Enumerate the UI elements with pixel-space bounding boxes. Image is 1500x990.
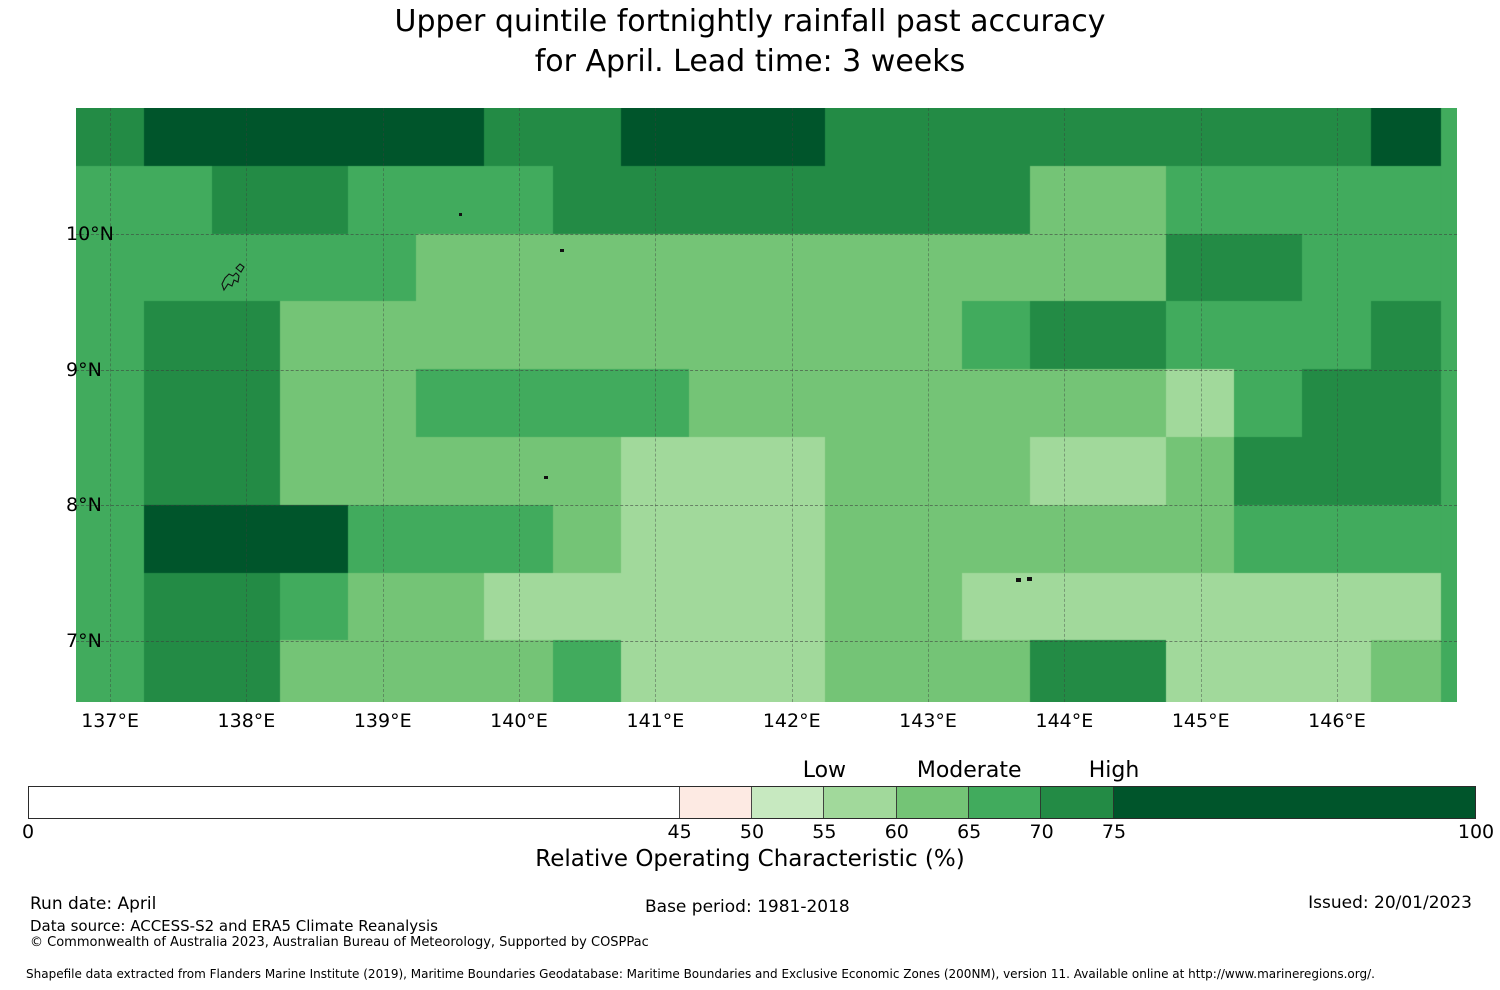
x-tick-label: 141°E	[627, 710, 685, 732]
y-tick-label: 10°N	[66, 223, 114, 245]
colorbar-axis-label: Relative Operating Characteristic (%)	[0, 845, 1500, 873]
colorbar-segment	[29, 787, 680, 818]
x-tick-label: 139°E	[354, 710, 412, 732]
colorbar-tick-label: 70	[1030, 821, 1054, 844]
x-tick-label: 145°E	[1172, 710, 1230, 732]
x-tick-label: 144°E	[1035, 710, 1093, 732]
x-tick-label: 140°E	[490, 710, 548, 732]
colorbar-segment	[680, 787, 752, 818]
footer-run-date: Run date: April	[30, 894, 156, 915]
colorbar-tick-label: 0	[22, 821, 34, 844]
colorbar-tick-label: 45	[668, 821, 692, 844]
footer-base-period: Base period: 1981-2018	[645, 897, 850, 918]
colorbar-segment	[1041, 787, 1113, 818]
x-tick-label: 146°E	[1308, 710, 1366, 732]
colorbar-segment	[897, 787, 969, 818]
heatmap-plot	[76, 108, 1457, 702]
footer-copyright: © Commonwealth of Australia 2023, Austra…	[30, 934, 649, 951]
x-tick-label: 138°E	[218, 710, 276, 732]
page-title: Upper quintile fortnightly rainfall past…	[0, 2, 1500, 82]
x-tick-label: 137°E	[81, 710, 139, 732]
colorbar-tick-label: 65	[957, 821, 981, 844]
x-tick-label: 142°E	[763, 710, 821, 732]
colorbar-category-label: Low	[803, 758, 846, 784]
colorbar-segment	[969, 787, 1041, 818]
colorbar-tick-label: 55	[812, 821, 836, 844]
y-tick-label: 9°N	[66, 359, 102, 381]
colorbar-category-label: Moderate	[917, 758, 1022, 784]
y-tick-label: 8°N	[66, 494, 102, 516]
colorbar-tick-label: 60	[885, 821, 909, 844]
colorbar-segment	[824, 787, 896, 818]
colorbar-category-label: High	[1089, 758, 1140, 784]
colorbar-segment	[1114, 787, 1476, 818]
footer-shapefile-note: Shapefile data extracted from Flanders M…	[26, 966, 1375, 982]
heatmap-canvas	[76, 108, 1457, 702]
colorbar-tick-label: 50	[740, 821, 764, 844]
colorbar	[28, 786, 1476, 819]
colorbar-segment	[752, 787, 824, 818]
y-tick-label: 7°N	[66, 630, 102, 652]
colorbar-tick-label: 75	[1102, 821, 1126, 844]
x-tick-label: 143°E	[899, 710, 957, 732]
footer-issued-date: Issued: 20/01/2023	[1308, 893, 1472, 914]
colorbar-tick-label: 100	[1458, 821, 1494, 844]
